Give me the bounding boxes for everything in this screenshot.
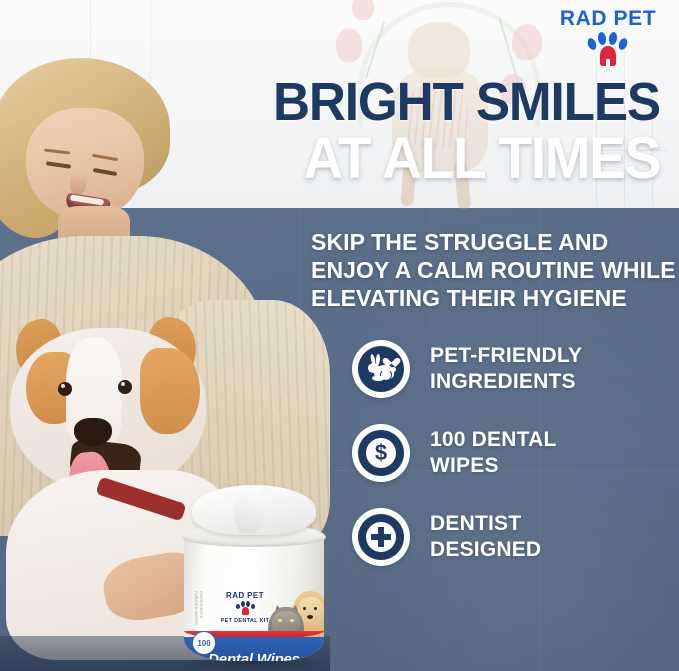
feature-label: DENTIST DESIGNED: [430, 511, 541, 563]
dog-eye: [58, 382, 72, 396]
dog-eye: [118, 380, 132, 394]
feature-item-wipe-count: $ 100 DENTAL WIPES: [352, 424, 672, 482]
subheading-line-2: ENJOY A CALM ROUTINE WHILE: [311, 256, 663, 284]
feature-label-line-2: WIPES: [430, 453, 556, 479]
feature-item-dentist-designed: DENTIST DESIGNED: [352, 508, 672, 566]
subheading-line-1: SKIP THE STRUGGLE AND: [311, 228, 663, 256]
headline-line-2: AT ALL TIMES: [33, 130, 660, 188]
feature-label-line-2: INGREDIENTS: [430, 369, 582, 395]
subheading: SKIP THE STRUGGLE AND ENJOY A CALM ROUTI…: [311, 228, 663, 312]
product-wipe-fold: [231, 487, 266, 534]
feature-label-line-1: 100 DENTAL: [430, 427, 556, 453]
paw-tooth-icon: [235, 601, 255, 616]
dollar-coin-icon: $: [352, 424, 410, 482]
product-label-logo: RAD PET PET DENTAL KIT: [214, 591, 276, 624]
dog-nose: [74, 418, 112, 446]
headline: BRIGHT SMILES AT ALL TIMES: [0, 76, 660, 188]
feature-label: 100 DENTAL WIPES: [430, 427, 556, 479]
rabbit-heart-icon: [352, 340, 410, 398]
product-tub: INGREDIENTS PURIFIED WATER GLYCERIN ALOE…: [178, 485, 330, 671]
paw-tooth-icon: [585, 31, 631, 67]
product-label-brand: RAD PET: [214, 591, 276, 600]
feature-label-line-1: PET-FRIENDLY: [430, 343, 582, 369]
feature-label-line-2: DESIGNED: [430, 537, 541, 563]
medical-cross-icon: [352, 508, 410, 566]
headline-line-1: BRIGHT SMILES: [33, 76, 660, 128]
brand-name: RAD PET: [552, 8, 664, 30]
product-label-subtitle: PET DENTAL KIT: [214, 618, 276, 624]
dog-face-patch: [140, 348, 200, 434]
feature-item-pet-friendly: PET-FRIENDLY INGREDIENTS: [352, 340, 672, 398]
marketing-image: RAD PET BRIGHT SMILES AT ALL TIMES SKIP …: [0, 0, 679, 671]
brand-logo: RAD PET: [552, 8, 664, 70]
feature-label-line-1: DENTIST: [430, 511, 541, 537]
feature-label: PET-FRIENDLY INGREDIENTS: [430, 343, 582, 395]
product-body: INGREDIENTS PURIFIED WATER GLYCERIN ALOE…: [184, 535, 324, 661]
product-count-badge: 100: [192, 631, 216, 655]
feature-list: PET-FRIENDLY INGREDIENTS $ 100 DENTAL WI…: [352, 340, 672, 592]
subheading-line-3: ELEVATING THEIR HYGIENE: [311, 284, 663, 312]
